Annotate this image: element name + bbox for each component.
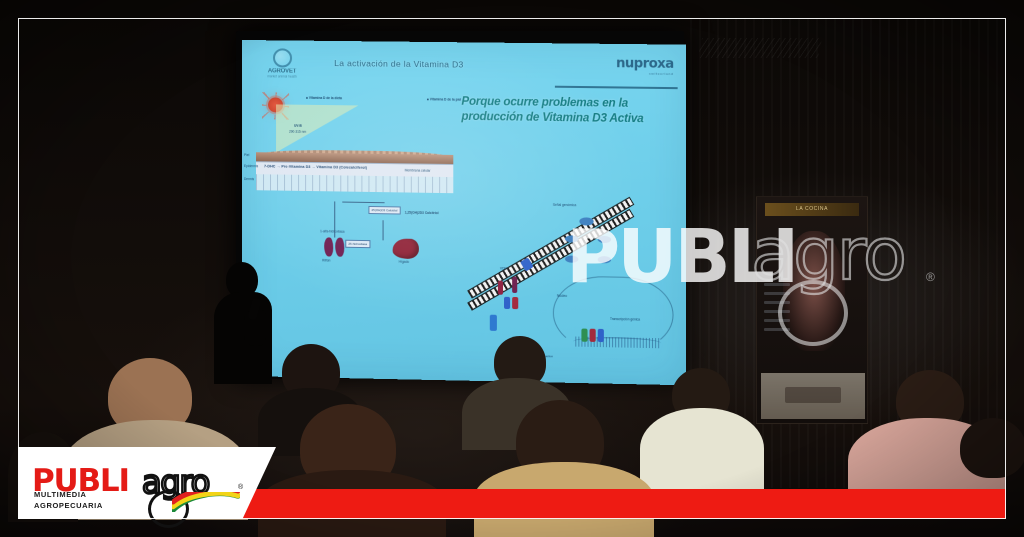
skin-subcutaneous xyxy=(256,174,453,193)
poster-bullet xyxy=(764,292,790,295)
connector-3 xyxy=(342,202,384,203)
kidney-right-icon xyxy=(335,238,344,257)
nuproxa-name: nuproxa xyxy=(616,56,674,72)
label-genomic-signal: Señal genómica xyxy=(553,203,576,207)
logo-registered-mark: ® xyxy=(238,484,243,491)
protein-pill-6 xyxy=(581,329,587,342)
ceiling-vent xyxy=(698,38,822,58)
poster-footer-logo xyxy=(785,387,841,403)
label-kidney: Riñón xyxy=(322,258,330,262)
protein-pill-4 xyxy=(512,297,518,309)
connector-2 xyxy=(383,220,384,240)
poster-header: LA COCINA xyxy=(765,203,859,216)
label-calcidiol: 25(OH)D3 Calcidiol xyxy=(368,206,400,215)
vesicle-2 xyxy=(565,235,578,242)
label-hydroxylase-1: 25-hidroxilasa xyxy=(345,240,370,248)
label-dermis: Dermis xyxy=(244,177,254,181)
projection-screen: AGROVET market animal health La activaci… xyxy=(242,40,686,385)
label-hydroxylase-2: 1-alfa-hidroxilasa xyxy=(320,229,344,233)
label-liver: Hígado xyxy=(399,260,409,264)
logo-tagline: MULTIMEDIA AGROPECUARIA xyxy=(34,490,103,512)
poster-bullet xyxy=(764,319,790,322)
label-uv-range: 290-315 nm xyxy=(289,130,306,134)
label-epidermis: Epidermis xyxy=(244,164,258,168)
poster-bullet xyxy=(764,328,790,331)
event-poster: LA COCINA xyxy=(756,196,868,424)
bolivia-flag-swoosh-icon xyxy=(172,492,240,512)
liver-icon xyxy=(393,238,419,259)
label-vdr: VDR xyxy=(500,266,507,270)
poster-pig-image xyxy=(783,231,845,351)
nuproxa-logo: nuproxa switzerland xyxy=(616,56,674,76)
screenshot-root: AGROVET market animal health La activaci… xyxy=(0,0,1024,537)
poster-bullet xyxy=(764,310,790,313)
vesicle-5 xyxy=(598,256,611,263)
nuproxa-tagline: switzerland xyxy=(616,71,674,76)
header-rule xyxy=(555,86,678,89)
protein-pill-5 xyxy=(490,315,497,331)
slide-title: La activación de la Vitamina D3 xyxy=(334,58,463,69)
poster-bullet-list xyxy=(764,283,790,337)
poster-bullet xyxy=(764,301,790,304)
presenter-silhouette xyxy=(214,262,276,382)
publiagro-logo: PUBLI agro ® MULTIMEDIA AGROPECUARIA xyxy=(32,466,129,497)
protein-pill-2 xyxy=(512,277,517,293)
vesicle-1 xyxy=(579,217,593,225)
protein-pill-1 xyxy=(498,281,503,295)
poster-bullet xyxy=(764,283,790,286)
label-nucleus: Núcleo xyxy=(557,294,567,298)
label-vitamin-source-1: ■ Vitamina D de la dieta xyxy=(306,96,342,100)
cell-membrane-diagram: Señal genómica VDR Núcleo Transcripción … xyxy=(459,193,673,358)
label-skin: Piel xyxy=(244,153,249,157)
logo-tagline-line1: MULTIMEDIA xyxy=(34,490,103,501)
protein-pill-3 xyxy=(504,297,510,309)
label-vitamin-source-2: ■ Vitamina D de la piel xyxy=(427,97,461,101)
connector-1 xyxy=(334,201,335,237)
protein-pill-7 xyxy=(590,329,596,342)
slide-overlay-text: Porque ocurre problemas en la producción… xyxy=(461,95,681,128)
poster-footer-panel xyxy=(761,373,865,419)
vesicle-4 xyxy=(565,255,578,262)
protein-pill-8 xyxy=(598,329,604,342)
agrovet-ring-icon xyxy=(273,48,292,67)
audience-head xyxy=(960,418,1024,478)
label-membrane: Membrana celular xyxy=(405,168,431,172)
slide-header: AGROVET market animal health La activaci… xyxy=(242,40,686,89)
label-gene-transcription: Transcripción génica xyxy=(610,317,640,322)
logo-tagline-line2: AGROPECUARIA xyxy=(34,501,103,512)
audience-shoulders xyxy=(640,408,764,492)
agrovet-tagline: market animal health xyxy=(251,74,313,79)
kidney-left-icon xyxy=(324,237,333,256)
label-uvb: UV-B xyxy=(294,124,302,128)
label-calcitriol: 1,25(OH)2D3 Calcitriol xyxy=(405,211,439,216)
agrovet-logo: AGROVET market animal health xyxy=(251,48,313,81)
vesicle-3 xyxy=(598,236,611,243)
